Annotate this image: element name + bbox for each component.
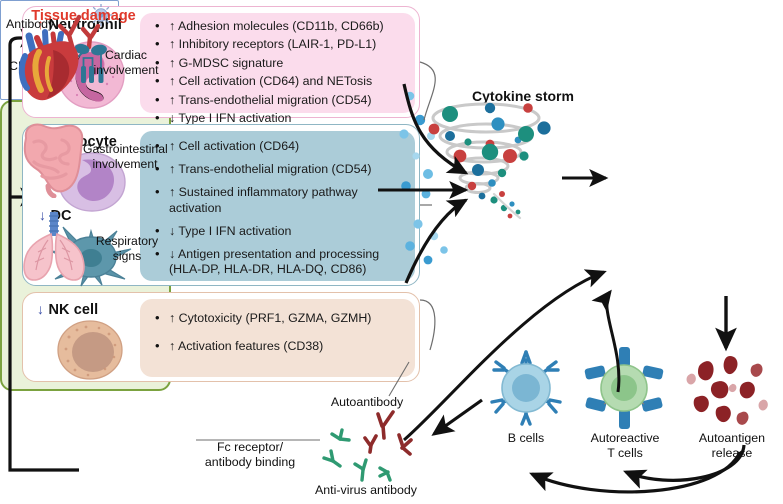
list-item: ↑ Adhesion molecules (CD11b, CD66b) bbox=[153, 19, 415, 34]
tornado-cytokine-icon bbox=[398, 78, 578, 278]
list-item: ↑ Inhibitory receptors (LAIR-1, PD-L1) bbox=[153, 37, 415, 52]
cytokine-dots-cluster bbox=[399, 92, 447, 265]
cardiac-involvement-label: Cardiac involvement bbox=[88, 48, 164, 77]
list-item: ↓ Antigen presentation and processing(HL… bbox=[153, 247, 419, 277]
nk-cell-panel: ↓ NK cell ↑ Cytotoxicity (PRF1, GZMA, GZ… bbox=[22, 292, 420, 382]
list-item-continuation: activation bbox=[169, 201, 419, 216]
b-cell-icon bbox=[484, 346, 568, 430]
autoantigen-release-label: Autoantigen release bbox=[688, 431, 776, 460]
list-item: ↑ Sustained inflammatory pathwayactivati… bbox=[153, 185, 419, 215]
list-item: ↑ Trans-endothelial migration (CD54) bbox=[153, 162, 419, 177]
autoantibody-cluster-icon bbox=[365, 412, 411, 454]
list-item: ↓ Type I IFN activation bbox=[153, 224, 419, 239]
nk-title-row: ↓ NK cell bbox=[37, 301, 98, 319]
fc-receptor-binding-label: Fc receptor/ antibody binding bbox=[190, 440, 310, 469]
nk-down-arrow-icon: ↓ bbox=[37, 301, 44, 317]
nk-feature-list: ↑ Cytotoxicity (PRF1, GZMA, GZMH) ↑ Acti… bbox=[153, 311, 415, 367]
list-item-continuation: (HLA-DP, HLA-DR, HLA-DQ, CD86) bbox=[169, 262, 419, 277]
nk-cell-icon bbox=[55, 319, 125, 381]
list-item: ↑ Trans-endothelial migration (CD54) bbox=[153, 93, 415, 108]
list-item: ↑ G-MDSC signature bbox=[153, 56, 415, 71]
lungs-icon bbox=[18, 208, 90, 284]
nk-title: NK cell bbox=[48, 302, 98, 318]
autoantigen-debris-icon bbox=[686, 352, 770, 428]
monocyte-feature-list: ↑ Cell activation (CD64) ↑ Trans-endothe… bbox=[153, 139, 419, 281]
autoreactive-t-cells-label: Autoreactive T cells bbox=[580, 431, 670, 460]
anti-virus-antibody-cluster-icon bbox=[324, 430, 390, 480]
autoantibody-label: Autoantibody bbox=[312, 395, 422, 410]
tissue-damage-title: Tissue damage bbox=[0, 8, 167, 24]
autoreactive-t-cell-icon bbox=[582, 346, 666, 430]
list-item: ↑ Activation features (CD38) bbox=[153, 339, 415, 354]
anti-virus-antibody-label: Anti-virus antibody bbox=[296, 483, 436, 498]
list-item: ↑ Cell activation (CD64) and NETosis bbox=[153, 74, 415, 89]
neutrophil-feature-list: ↑ Adhesion molecules (CD11b, CD66b) ↑ In… bbox=[153, 19, 415, 129]
list-item: ↑ Cell activation (CD64) bbox=[153, 139, 419, 154]
list-item: ↑ Cytotoxicity (PRF1, GZMA, GZMH) bbox=[153, 311, 415, 326]
respiratory-signs-label: Respiratory signs bbox=[90, 234, 164, 263]
intestine-icon bbox=[14, 120, 90, 198]
b-cells-label: B cells bbox=[490, 431, 562, 446]
gastrointestinal-involvement-label: Gastrointestinal involvement bbox=[83, 142, 167, 171]
heart-icon bbox=[15, 28, 87, 106]
